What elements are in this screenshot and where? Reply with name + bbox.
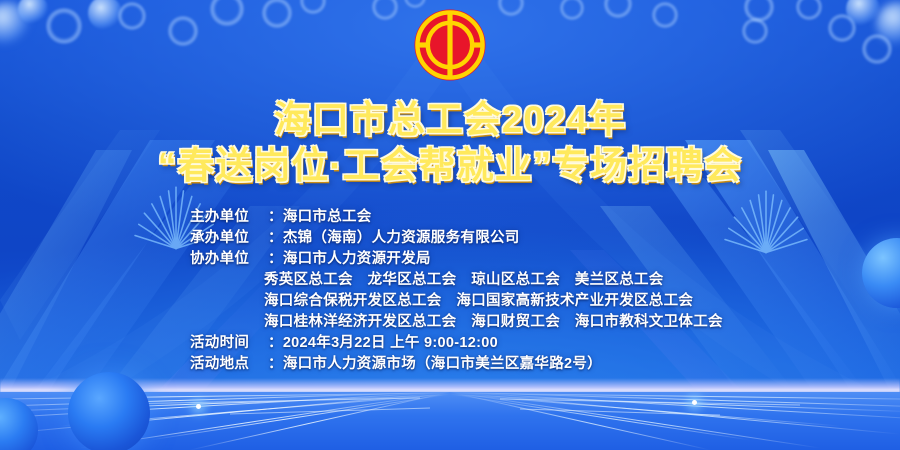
- detail-label: 活动地点: [190, 354, 268, 375]
- bokeh-light: [262, 0, 292, 28]
- bokeh-light: [404, 0, 426, 8]
- detail-separator: ：: [268, 207, 283, 228]
- detail-separator: ：: [268, 228, 283, 249]
- detail-row-coorganizer-cont: 海口综合保税开发区总工会 海口国家高新技术产业开发区总工会: [264, 291, 900, 312]
- detail-value: 杰锦（海南）人力资源服务有限公司: [283, 228, 520, 249]
- detail-row-coorganizer-cont: 秀英区总工会 龙华区总工会 琼山区总工会 美兰区总工会: [264, 270, 900, 291]
- bokeh-light: [118, 2, 146, 30]
- detail-separator: ：: [268, 354, 283, 375]
- detail-value: 海口市总工会: [283, 207, 372, 228]
- bokeh-light: [300, 0, 326, 14]
- detail-value: 2024年3月22日 上午 9:00-12:00: [283, 333, 498, 354]
- detail-label: 协办单位: [190, 249, 268, 270]
- light-accent: [692, 400, 697, 405]
- bokeh-light: [828, 14, 856, 42]
- detail-value: 海口市人力资源市场（海口市美兰区嘉华路2号）: [283, 354, 602, 375]
- bokeh-light: [88, 0, 122, 30]
- bokeh-light: [0, 2, 30, 46]
- bokeh-light: [652, 2, 678, 28]
- bokeh-light: [46, 8, 82, 44]
- glow-sphere: [68, 372, 150, 450]
- headline-block: 海口市总工会2024年 “春送岗位·工会帮就业”专场招聘会: [0, 100, 900, 185]
- bokeh-light: [796, 0, 822, 20]
- light-accent: [196, 404, 201, 409]
- detail-separator: ：: [268, 249, 283, 270]
- detail-value: 秀英区总工会 龙华区总工会 琼山区总工会 美兰区总工会: [264, 270, 664, 291]
- detail-row-coorganizer-cont: 海口桂林洋经济开发区总工会 海口财贸工会 海口市教科文卫体工会: [264, 312, 900, 333]
- detail-separator: ：: [268, 333, 283, 354]
- bokeh-light: [846, 0, 880, 26]
- headline-line-1: 海口市总工会2024年: [0, 100, 900, 139]
- detail-row-location: 活动地点 ： 海口市人力资源市场（海口市美兰区嘉华路2号）: [0, 354, 900, 375]
- details-block: 主办单位 ： 海口市总工会 承办单位 ： 杰锦（海南）人力资源服务有限公司 协办…: [0, 207, 900, 375]
- detail-label: 主办单位: [190, 207, 268, 228]
- detail-row-host: 承办单位 ： 杰锦（海南）人力资源服务有限公司: [0, 228, 900, 249]
- bokeh-light: [560, 0, 584, 20]
- bokeh-light: [372, 0, 398, 20]
- detail-row-organizer: 主办单位 ： 海口市总工会: [0, 207, 900, 228]
- bokeh-light: [604, 0, 632, 18]
- detail-label: 承办单位: [190, 228, 268, 249]
- poster-canvas: 海口市总工会2024年 “春送岗位·工会帮就业”专场招聘会 主办单位 ： 海口市…: [0, 0, 900, 450]
- bokeh-light: [876, 2, 900, 46]
- detail-row-time: 活动时间 ： 2024年3月22日 上午 9:00-12:00: [0, 333, 900, 354]
- detail-value: 海口桂林洋经济开发区总工会 海口财贸工会 海口市教科文卫体工会: [264, 312, 723, 333]
- headline-line-2: “春送岗位·工会帮就业”专场招聘会: [0, 146, 900, 185]
- bokeh-light: [18, 0, 48, 24]
- detail-value: 海口综合保税开发区总工会 海口国家高新技术产业开发区总工会: [264, 291, 693, 312]
- bokeh-light: [498, 0, 524, 16]
- bokeh-light: [168, 16, 198, 46]
- bokeh-light: [862, 34, 892, 64]
- bokeh-light: [210, 0, 244, 26]
- bokeh-light: [742, 18, 768, 44]
- detail-row-coorganizer: 协办单位 ： 海口市人力资源开发局: [0, 249, 900, 270]
- detail-value: 海口市人力资源开发局: [283, 249, 431, 270]
- bokeh-light: [744, 0, 774, 22]
- acftu-union-emblem-icon: [413, 8, 487, 82]
- detail-label: 活动时间: [190, 333, 268, 354]
